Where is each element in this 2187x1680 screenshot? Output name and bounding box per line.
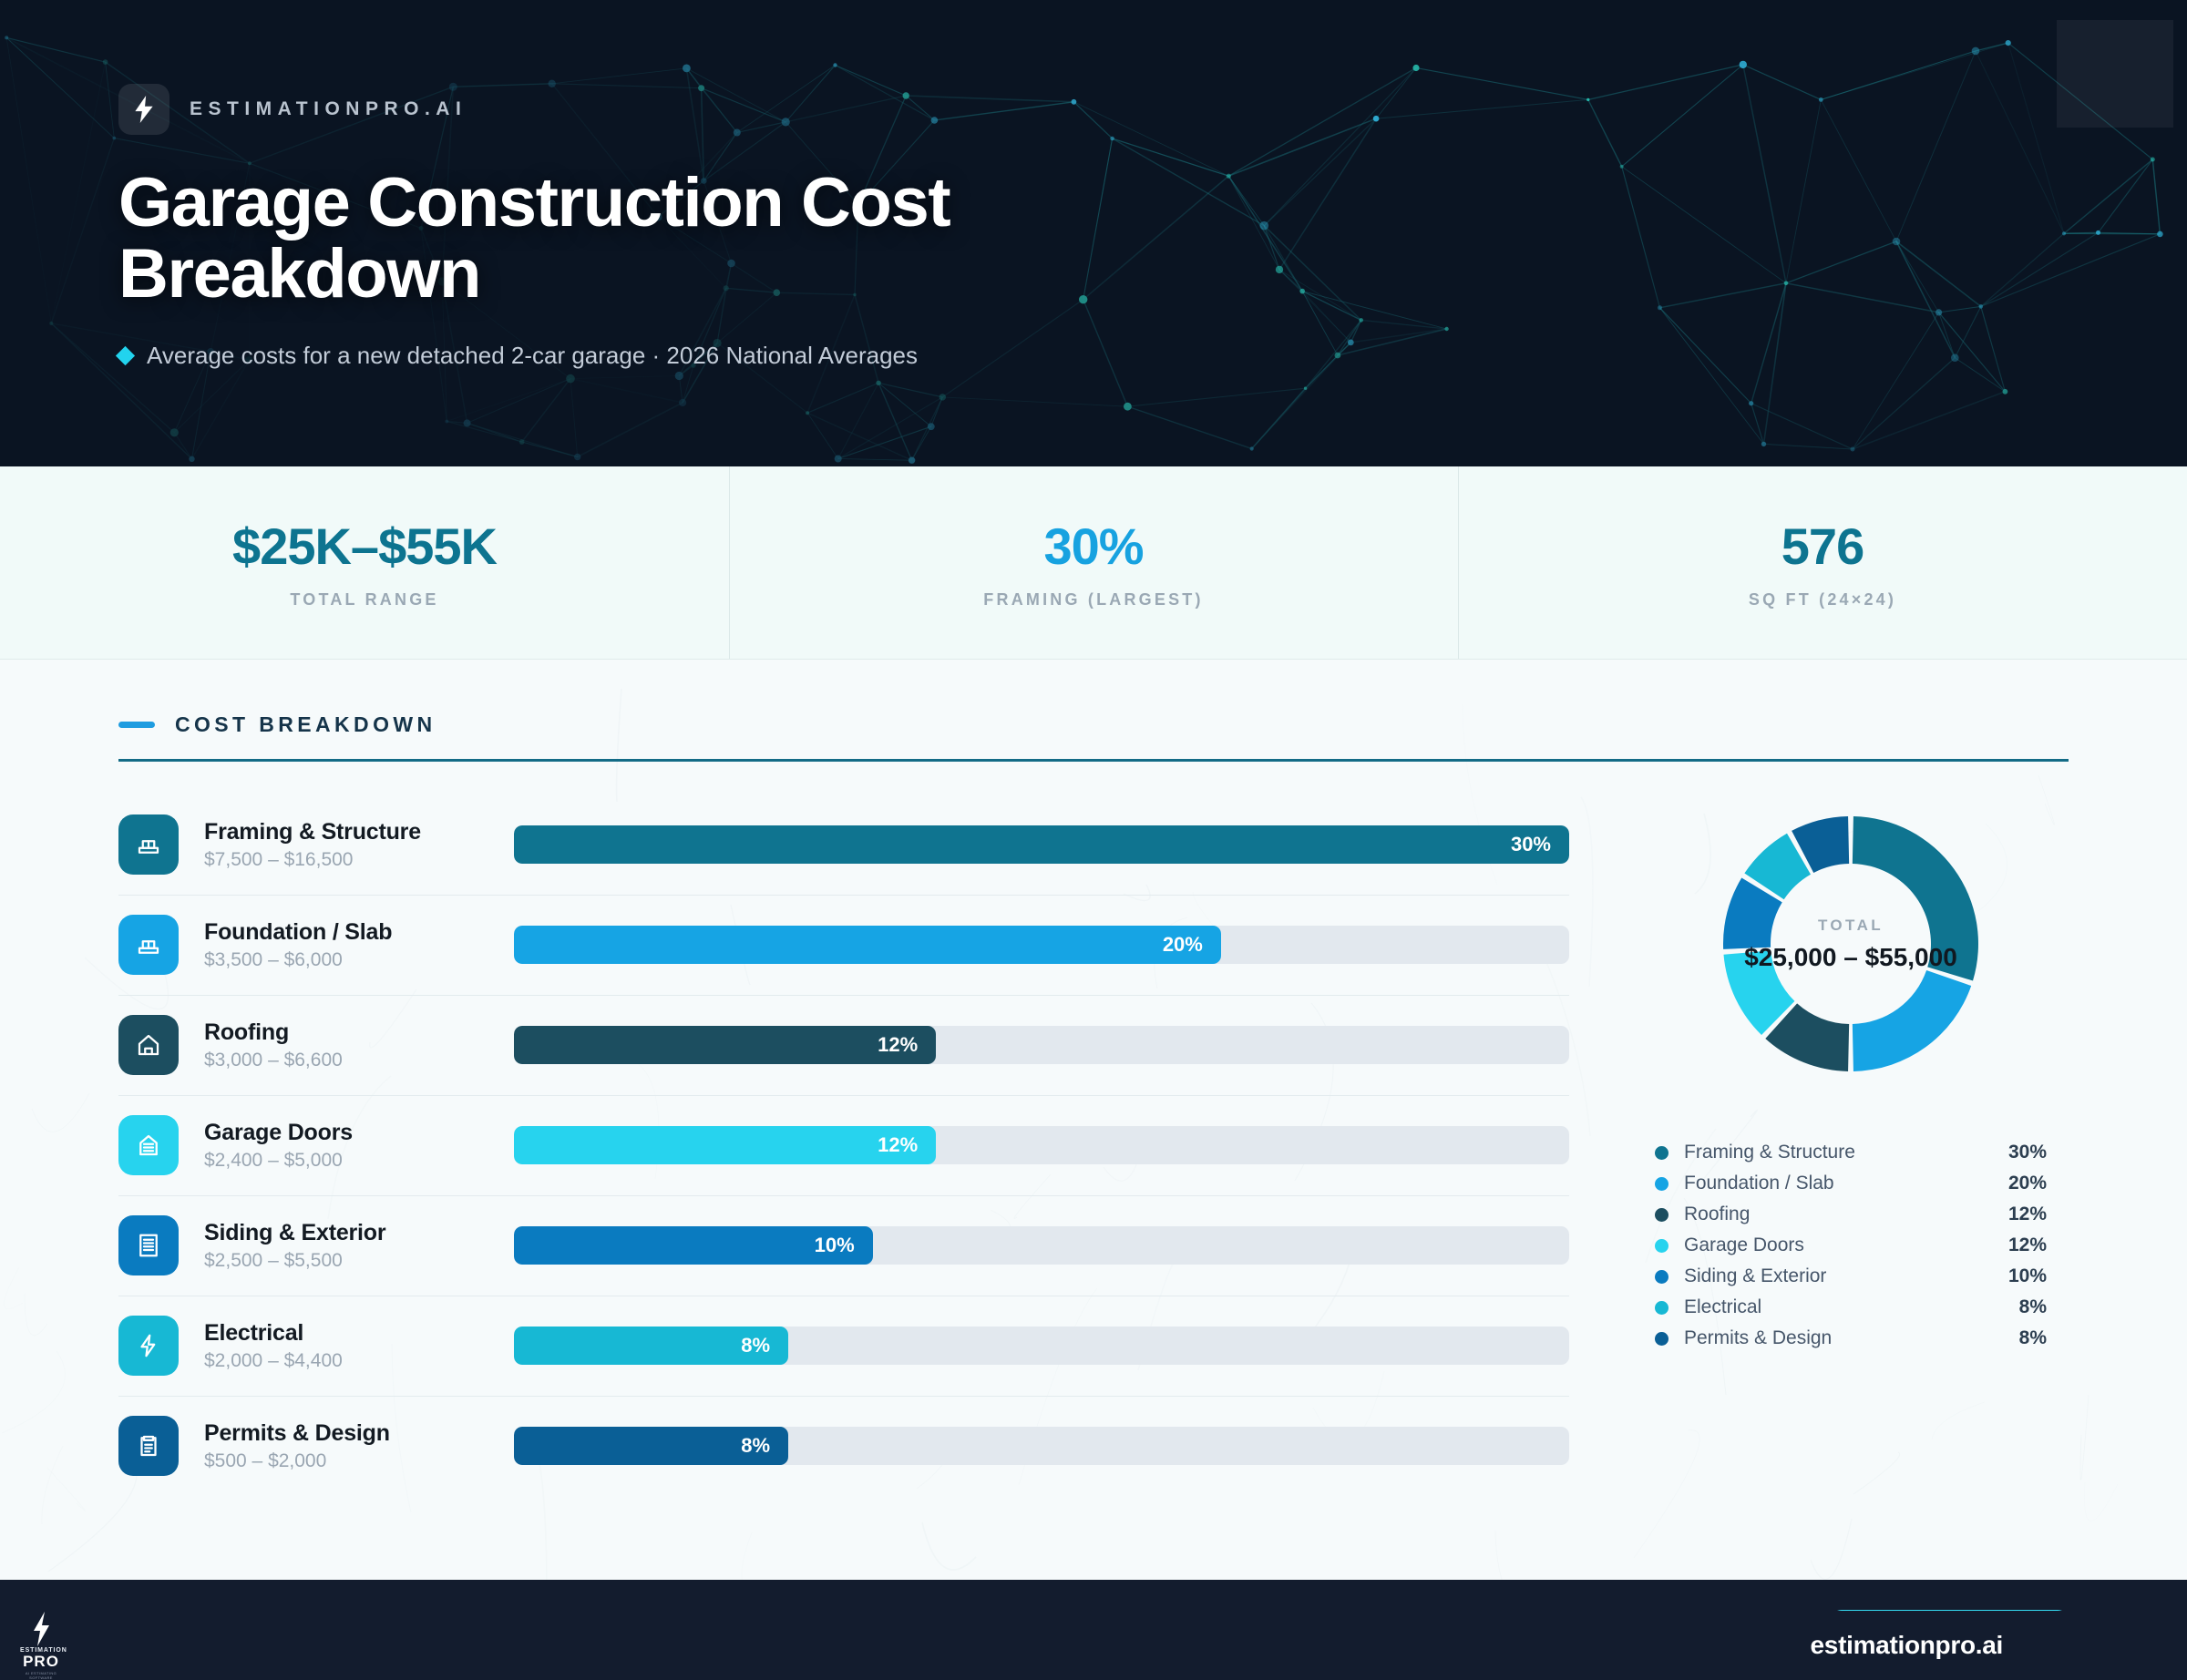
category-cost-range: $2,500 – $5,500	[204, 1250, 514, 1272]
category-labels: Garage Doors$2,400 – $5,000	[204, 1120, 514, 1172]
legend-color-dot	[1655, 1301, 1668, 1315]
donut-segment	[1853, 970, 1971, 1071]
bar-track: 10%	[514, 1226, 1569, 1265]
watermark-logo: ESTIMATION PRO AI ESTIMATING SOFTWARE	[20, 1612, 62, 1680]
stat-card-1: $25K–$55KTOTAL RANGE	[0, 466, 729, 659]
bar-track: 12%	[514, 1026, 1569, 1064]
donut-panel: TOTAL $25,000 – $55,000 Framing & Struct…	[1586, 794, 2069, 1496]
category-name: Electrical	[204, 1320, 514, 1347]
category-cost-range: $2,000 – $4,400	[204, 1350, 514, 1372]
category-labels: Siding & Exterior$2,500 – $5,500	[204, 1220, 514, 1272]
stat-card-3: 576SQ FT (24×24)	[1458, 466, 2187, 659]
legend-item: Siding & Exterior10%	[1655, 1261, 2047, 1292]
legend-label: Siding & Exterior	[1684, 1265, 2008, 1287]
bolt-icon	[30, 1612, 52, 1646]
category-icon-tile	[118, 1015, 179, 1075]
legend-label: Roofing	[1684, 1204, 2008, 1225]
cost-row: Siding & Exterior$2,500 – $5,50010%	[118, 1195, 1586, 1296]
bar-track: 12%	[514, 1126, 1569, 1164]
donut-svg	[1710, 804, 1991, 1084]
legend-label: Electrical	[1684, 1296, 2019, 1318]
legend-percent: 12%	[2008, 1204, 2047, 1225]
subtitle-row: Average costs for a new detached 2-car g…	[118, 342, 2187, 370]
foundation-icon	[135, 831, 162, 858]
diamond-icon	[116, 346, 135, 365]
category-icon-tile	[118, 1215, 179, 1275]
category-cost-range: $3,500 – $6,000	[204, 949, 514, 971]
section-title: COST BREAKDOWN	[175, 712, 436, 737]
bar-percent-label: 10%	[815, 1234, 873, 1257]
stat-card-2: 30%FRAMING (LARGEST)	[729, 466, 1458, 659]
category-cost-range: $2,400 – $5,000	[204, 1150, 514, 1172]
cost-breakdown-list: Framing & Structure$7,500 – $16,50030%Fo…	[118, 794, 1586, 1496]
stat-label: FRAMING (LARGEST)	[983, 590, 1203, 610]
category-icon-tile	[118, 1115, 179, 1175]
bar-track: 20%	[514, 926, 1569, 964]
chart-legend: Framing & Structure30%Foundation / Slab2…	[1655, 1137, 2047, 1354]
legend-item: Electrical8%	[1655, 1292, 2047, 1323]
bolt-icon	[132, 96, 156, 123]
bar-fill: 8%	[514, 1327, 788, 1365]
bar-percent-label: 12%	[878, 1033, 936, 1057]
cost-row: Foundation / Slab$3,500 – $6,00020%	[118, 895, 1586, 995]
category-icon-tile	[118, 814, 179, 875]
category-labels: Framing & Structure$7,500 – $16,500	[204, 819, 514, 871]
page-title: Garage Construction Cost Breakdown	[118, 168, 1212, 309]
legend-color-dot	[1655, 1239, 1668, 1253]
brand-row: ESTIMATIONPRO.AI	[118, 0, 2187, 135]
garage-door-icon	[135, 1132, 162, 1159]
legend-percent: 12%	[2008, 1234, 2047, 1256]
bar-track: 30%	[514, 825, 1569, 864]
stat-label: TOTAL RANGE	[290, 590, 438, 610]
category-cost-range: $500 – $2,000	[204, 1450, 514, 1472]
legend-color-dot	[1655, 1270, 1668, 1284]
bar-fill: 12%	[514, 1126, 936, 1164]
legend-percent: 8%	[2019, 1327, 2047, 1349]
legend-percent: 20%	[2008, 1173, 2047, 1194]
category-name: Framing & Structure	[204, 819, 514, 845]
cost-row: Electrical$2,000 – $4,4008%	[118, 1296, 1586, 1396]
clipboard-icon	[135, 1432, 162, 1460]
legend-label: Framing & Structure	[1684, 1142, 2008, 1163]
category-labels: Permits & Design$500 – $2,000	[204, 1420, 514, 1472]
stat-label: SQ FT (24×24)	[1749, 590, 1896, 610]
legend-color-dot	[1655, 1332, 1668, 1346]
category-labels: Electrical$2,000 – $4,400	[204, 1320, 514, 1372]
category-labels: Foundation / Slab$3,500 – $6,000	[204, 919, 514, 971]
stat-value: $25K–$55K	[232, 517, 497, 576]
legend-percent: 30%	[2008, 1142, 2047, 1163]
main-content: COST BREAKDOWN Framing & Structure$7,500…	[0, 660, 2187, 1580]
legend-color-dot	[1655, 1177, 1668, 1191]
legend-item: Garage Doors12%	[1655, 1230, 2047, 1261]
category-name: Permits & Design	[204, 1420, 514, 1447]
brand-logo-badge	[118, 84, 169, 135]
siding-icon	[135, 1232, 162, 1259]
legend-item: Foundation / Slab20%	[1655, 1168, 2047, 1199]
infographic-page: ESTIMATIONPRO.AI Garage Construction Cos…	[0, 0, 2187, 1680]
legend-color-dot	[1655, 1146, 1668, 1160]
cost-row: Framing & Structure$7,500 – $16,50030%	[118, 794, 1586, 895]
category-cost-range: $7,500 – $16,500	[204, 849, 514, 871]
bar-percent-label: 30%	[1511, 833, 1569, 856]
donut-segment	[1853, 816, 1978, 980]
category-cost-range: $3,000 – $6,600	[204, 1050, 514, 1071]
legend-label: Foundation / Slab	[1684, 1173, 2008, 1194]
category-labels: Roofing$3,000 – $6,600	[204, 1019, 514, 1071]
bar-percent-label: 8%	[741, 1434, 788, 1458]
stat-value: 30%	[1043, 517, 1143, 576]
donut-chart: TOTAL $25,000 – $55,000	[1710, 804, 1991, 1084]
bar-track: 8%	[514, 1327, 1569, 1365]
category-name: Garage Doors	[204, 1120, 514, 1146]
legend-percent: 8%	[2019, 1296, 2047, 1318]
cost-row: Roofing$3,000 – $6,60012%	[118, 995, 1586, 1095]
page-subtitle: Average costs for a new detached 2-car g…	[147, 342, 918, 370]
cost-row: Permits & Design$500 – $2,0008%	[118, 1396, 1586, 1496]
category-icon-tile	[118, 915, 179, 975]
category-name: Foundation / Slab	[204, 919, 514, 946]
bar-percent-label: 20%	[1163, 933, 1221, 957]
cost-row: Garage Doors$2,400 – $5,00012%	[118, 1095, 1586, 1195]
brand-name: ESTIMATIONPRO.AI	[190, 98, 467, 120]
watermark-line3: AI ESTIMATING SOFTWARE	[20, 1671, 62, 1680]
bar-track: 8%	[514, 1427, 1569, 1465]
section-header: COST BREAKDOWN	[118, 712, 2069, 737]
watermark-line2: PRO	[20, 1654, 62, 1669]
legend-percent: 10%	[2008, 1265, 2047, 1287]
bolt-icon	[135, 1332, 162, 1359]
section-rule	[118, 759, 2069, 762]
section-dash-icon	[118, 722, 155, 728]
foundation-icon	[135, 931, 162, 958]
legend-color-dot	[1655, 1208, 1668, 1222]
category-icon-tile	[118, 1416, 179, 1476]
legend-label: Permits & Design	[1684, 1327, 2019, 1349]
bar-percent-label: 12%	[878, 1133, 936, 1157]
bar-fill: 12%	[514, 1026, 936, 1064]
bar-fill: 8%	[514, 1427, 788, 1465]
bar-fill: 20%	[514, 926, 1221, 964]
category-name: Siding & Exterior	[204, 1220, 514, 1246]
legend-item: Permits & Design8%	[1655, 1323, 2047, 1354]
house-icon	[135, 1031, 162, 1059]
bar-percent-label: 8%	[741, 1334, 788, 1357]
legend-label: Garage Doors	[1684, 1234, 2008, 1256]
legend-item: Roofing12%	[1655, 1199, 2047, 1230]
watermark-bar: ESTIMATION PRO AI ESTIMATING SOFTWARE es…	[0, 1611, 2187, 1680]
stat-value: 576	[1781, 517, 1864, 576]
header: ESTIMATIONPRO.AI Garage Construction Cos…	[0, 0, 2187, 466]
legend-item: Framing & Structure30%	[1655, 1137, 2047, 1168]
bar-fill: 10%	[514, 1226, 873, 1265]
stats-band: $25K–$55KTOTAL RANGE30%FRAMING (LARGEST)…	[0, 466, 2187, 660]
category-name: Roofing	[204, 1019, 514, 1046]
category-icon-tile	[118, 1316, 179, 1376]
bar-fill: 30%	[514, 825, 1569, 864]
watermark-domain: estimationpro.ai	[1811, 1631, 2003, 1660]
